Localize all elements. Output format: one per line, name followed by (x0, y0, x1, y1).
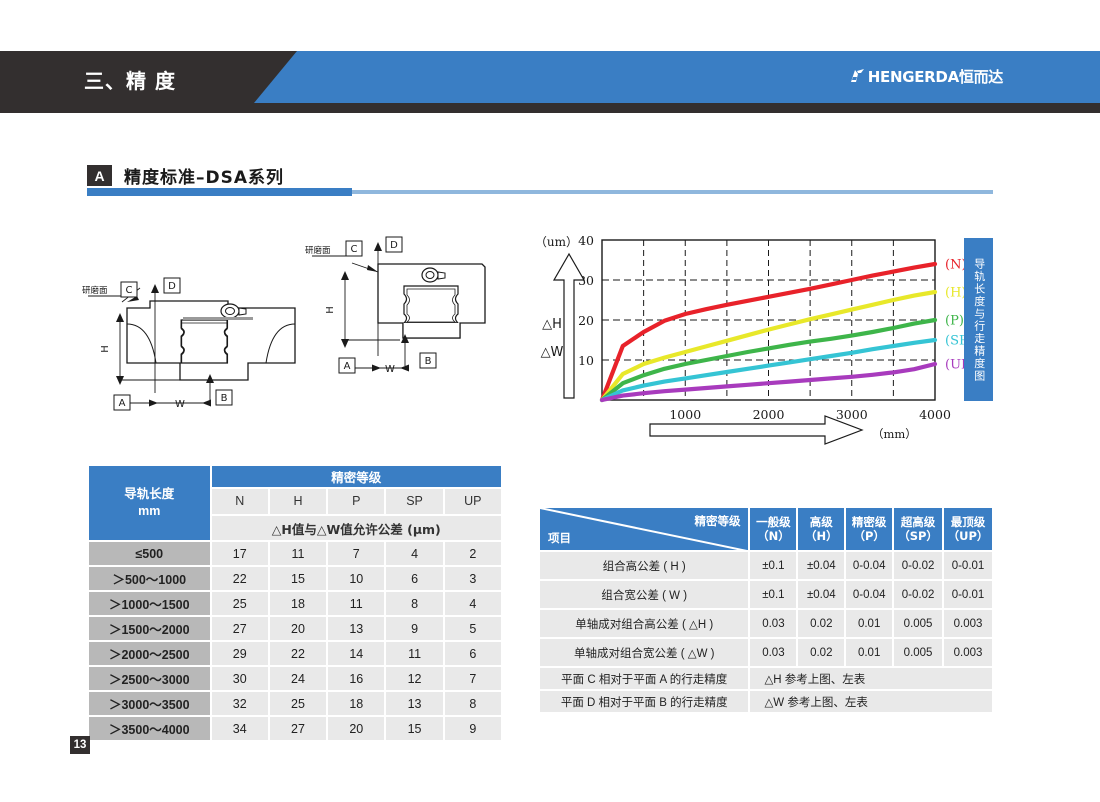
tolerance-value: 8 (385, 591, 443, 616)
tolerance-value: 11 (327, 591, 385, 616)
chart-delta-h-label: △H (542, 317, 562, 332)
tolerance-value: 2 (444, 541, 502, 566)
ground-surface-label-right: 研磨面 (305, 245, 331, 256)
tolerance-value: 11 (269, 541, 327, 566)
column-header-sp: 超高级 （SP） (893, 507, 943, 551)
tolerance-value: 13 (327, 616, 385, 641)
tolerance-value: 9 (444, 716, 502, 741)
hengerda-logo-mark-icon (849, 68, 866, 85)
tolerance-value: 6 (444, 641, 502, 666)
rail-length-range: ＞500～1000 (88, 566, 211, 591)
column-header-h: 高级 （H） (797, 507, 845, 551)
page-number: 13 (70, 736, 90, 754)
column-header-n: 一般级 （N） (749, 507, 797, 551)
tolerance-value: 0.005 (893, 638, 943, 667)
tolerance-value: 0.03 (749, 638, 797, 667)
tolerance-value: 10 (327, 566, 385, 591)
tolerance-value: 0-0.04 (845, 580, 893, 609)
column-header-up: 最顶级 （UP） (943, 507, 993, 551)
tolerance-value: 24 (269, 666, 327, 691)
table-row: 单轴成对组合高公差 ( △H )0.030.020.010.0050.003 (539, 609, 993, 638)
tolerance-value: 29 (211, 641, 269, 666)
column-header-n-code: （N） (750, 529, 796, 543)
travel-accuracy-label: 平面 D 相对于平面 B 的行走精度 (539, 690, 749, 713)
tolerance-value: ±0.1 (749, 580, 797, 609)
chart-ytick-label: 40 (578, 233, 594, 248)
table-row: ＞500～100022151063 (88, 566, 502, 591)
tolerance-item-label: 单轴成对组合宽公差 ( △W ) (539, 638, 749, 667)
datum-label-b: B (425, 356, 432, 367)
rail-length-range: ＞3500～4000 (88, 716, 211, 741)
column-header-sp-code: （SP） (894, 529, 942, 543)
table-row: ＞1000～150025181184 (88, 591, 502, 616)
column-header-p-name: 精密级 (846, 515, 892, 529)
tolerance-item-label: 组合宽公差 ( W ) (539, 580, 749, 609)
tolerance-value: ±0.04 (797, 580, 845, 609)
table-row: 精密等级 项目 一般级 （N） 高级 （H） 精密级 （P） 超高级 （SP (539, 507, 993, 551)
chart-xtick-label: 2000 (753, 407, 785, 422)
tolerance-value: 0.005 (893, 609, 943, 638)
tolerance-value: 3 (444, 566, 502, 591)
drawing-rail-block-front-view: C D A B W H 研磨面 (80, 268, 330, 423)
tolerance-value: 15 (385, 716, 443, 741)
ground-surface-label-left: 研磨面 (82, 285, 108, 296)
travel-accuracy-reference: △H 参考上图、左表 (749, 667, 993, 690)
page-header: 三、精 度 HENGERDA恒而达 (0, 51, 1100, 113)
tolerance-value: 12 (385, 666, 443, 691)
column-header-h-code: （H） (798, 529, 844, 543)
grade-column-header: UP (444, 488, 502, 516)
tolerance-value: 0.003 (943, 609, 993, 638)
tolerance-note: △H值与△W值允许公差 (μm) (211, 515, 502, 541)
table-row: 平面 C 相对于平面 A 的行走精度△H 参考上图、左表 (539, 667, 993, 690)
chart-y-unit-label: （um） (540, 235, 578, 249)
table-row: ＞1500～200027201395 (88, 616, 502, 641)
grade-column-header: H (269, 488, 327, 516)
grade-column-header: P (327, 488, 385, 516)
tolerance-value: 20 (269, 616, 327, 641)
rail-length-title: 导轨长度 (89, 486, 210, 503)
tolerance-value: 0-0.01 (943, 551, 993, 580)
tolerance-value: 20 (327, 716, 385, 741)
tolerance-value: 25 (269, 691, 327, 716)
item-header-label: 项目 (548, 530, 571, 546)
tolerance-value: 13 (385, 691, 443, 716)
tolerance-value: 7 (444, 666, 502, 691)
tolerance-value: 0.01 (845, 638, 893, 667)
datum-label-c: C (351, 244, 358, 255)
grade-header-label: 精密等级 (694, 513, 740, 529)
chart-ytick-label: 10 (578, 353, 594, 368)
datum-label-d: D (390, 240, 398, 251)
chart-xtick-label: 1000 (669, 407, 701, 422)
tolerance-value: 4 (385, 541, 443, 566)
tolerance-value: ±0.04 (797, 551, 845, 580)
tolerance-value: 7 (327, 541, 385, 566)
dim-label-w: W (385, 364, 395, 375)
dim-label-h: H (100, 345, 111, 353)
grade-column-header: SP (385, 488, 443, 516)
datum-label-a: A (119, 398, 126, 409)
tolerance-value: 18 (327, 691, 385, 716)
section-badge: A (87, 165, 112, 186)
tolerance-value: 6 (385, 566, 443, 591)
tolerance-value: 8 (444, 691, 502, 716)
rail-length-range: ＞1000～1500 (88, 591, 211, 616)
tolerance-value: 0.02 (797, 638, 845, 667)
dim-label-w: W (175, 399, 185, 410)
chart-xtick-label: 4000 (919, 407, 951, 422)
tolerance-value: 15 (269, 566, 327, 591)
column-header-p: 精密级 （P） (845, 507, 893, 551)
rail-length-range: ＞2000～2500 (88, 641, 211, 666)
tolerance-value: 25 (211, 591, 269, 616)
table-row: 导轨长度 mm 精密等级 (88, 465, 502, 488)
drawing-rail-block-side-view: C D A B W H 研磨面 (300, 228, 515, 393)
rail-length-range: ＞1500～2000 (88, 616, 211, 641)
tolerance-value: 34 (211, 716, 269, 741)
tolerance-value: 9 (385, 616, 443, 641)
tolerance-value: 18 (269, 591, 327, 616)
section-title: 精度标准–DSA系列 (124, 163, 284, 188)
tolerance-value: 0-0.01 (943, 580, 993, 609)
page: 三、精 度 HENGERDA恒而达 A 精度标准–DSA系列 (0, 0, 1100, 802)
page-title: 三、精 度 (84, 65, 176, 94)
tolerance-value: 0-0.02 (893, 551, 943, 580)
table-row: ＞3000～3500322518138 (88, 691, 502, 716)
column-header-h-name: 高级 (798, 515, 844, 529)
tolerance-value: 22 (211, 566, 269, 591)
tolerance-value: 4 (444, 591, 502, 616)
chart-legend-p: (P) (945, 314, 964, 329)
tolerance-value: 0-0.04 (845, 551, 893, 580)
travel-accuracy-reference: △W 参考上图、左表 (749, 690, 993, 713)
tolerance-value: 5 (444, 616, 502, 641)
tolerance-value: 0-0.02 (893, 580, 943, 609)
table-row: 组合高公差 ( H )±0.1±0.040-0.040-0.020-0.01 (539, 551, 993, 580)
column-header-p-code: （P） (846, 529, 892, 543)
column-header-sp-name: 超高级 (894, 515, 942, 529)
tolerance-value: ±0.1 (749, 551, 797, 580)
tolerance-value: 30 (211, 666, 269, 691)
rail-length-range: ≤500 (88, 541, 211, 566)
section-rule-accent (87, 188, 352, 196)
chart-ytick-label: 20 (578, 313, 594, 328)
datum-label-b: B (221, 393, 228, 404)
brand-logo-text: HENGERDA恒而达 (868, 66, 1003, 87)
table-row: ＞3500～4000342720159 (88, 716, 502, 741)
tolerance-value: 0.01 (845, 609, 893, 638)
travel-accuracy-label: 平面 C 相对于平面 A 的行走精度 (539, 667, 749, 690)
tolerance-value: 0.02 (797, 609, 845, 638)
rail-length-unit: mm (89, 503, 210, 520)
datum-label-d: D (168, 281, 176, 292)
column-header-up-name: 最顶级 (944, 515, 992, 529)
rail-length-range: ＞2500～3000 (88, 666, 211, 691)
section-heading: A 精度标准–DSA系列 (87, 163, 284, 188)
tolerance-item-label: 单轴成对组合高公差 ( △H ) (539, 609, 749, 638)
column-header-up-code: （UP） (944, 529, 992, 543)
table-row: 平面 D 相对于平面 B 的行走精度△W 参考上图、左表 (539, 690, 993, 713)
chart-x-unit-label: （mm） (872, 427, 917, 441)
tolerance-value: 0.003 (943, 638, 993, 667)
grade-column-header: N (211, 488, 269, 516)
rail-length-tolerance-table: 导轨长度 mm 精密等级 NHPSPUP △H值与△W值允许公差 (μm) ≤5… (87, 464, 503, 742)
tolerance-value: 14 (327, 641, 385, 666)
dim-label-h: H (325, 306, 336, 314)
datum-label-a: A (344, 361, 351, 372)
column-header-n-name: 一般级 (750, 515, 796, 529)
table-row: 组合宽公差 ( W )±0.1±0.040-0.040-0.020-0.01 (539, 580, 993, 609)
tolerance-value: 27 (269, 716, 327, 741)
tolerance-item-label: 组合高公差 ( H ) (539, 551, 749, 580)
rail-length-header: 导轨长度 mm (88, 465, 211, 541)
tolerance-value: 16 (327, 666, 385, 691)
diagonal-header-cell: 精密等级 项目 (539, 507, 749, 551)
tolerance-value: 22 (269, 641, 327, 666)
brand-logo: HENGERDA恒而达 (849, 66, 1003, 87)
table-row: ＞2500～3000302416127 (88, 666, 502, 691)
table-row: ＞2000～2500292214116 (88, 641, 502, 666)
chart-delta-w-label: △W (541, 345, 564, 360)
chart-xtick-label: 3000 (836, 407, 868, 422)
grade-group-header: 精密等级 (211, 465, 502, 488)
grade-tolerance-table: 精密等级 项目 一般级 （N） 高级 （H） 精密级 （P） 超高级 （SP (538, 506, 994, 714)
tolerance-value: 11 (385, 641, 443, 666)
tolerance-value: 17 (211, 541, 269, 566)
table-row: 单轴成对组合宽公差 ( △W )0.030.020.010.0050.003 (539, 638, 993, 667)
tolerance-value: 0.03 (749, 609, 797, 638)
chart-side-banner: 导轨长度与行走精度图 (964, 238, 993, 401)
tolerance-value: 27 (211, 616, 269, 641)
rail-length-range: ＞3000～3500 (88, 691, 211, 716)
table-row: ≤5001711742 (88, 541, 502, 566)
datum-label-c: C (126, 285, 133, 296)
accuracy-chart: 102030401000200030004000（um）（mm）△H△W(N)(… (540, 228, 1005, 453)
tolerance-value: 32 (211, 691, 269, 716)
